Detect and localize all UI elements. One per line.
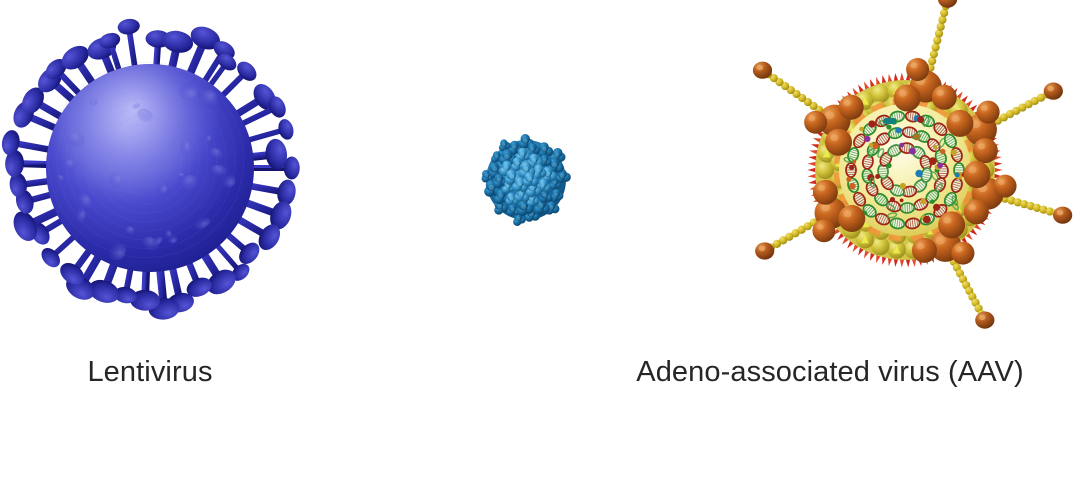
adenovirus-fiber-knob — [938, 0, 957, 8]
adenovirus-core-protein — [900, 183, 906, 189]
adenovirus-dna-segment — [900, 203, 915, 214]
adenovirus-fiber-bead — [938, 16, 946, 24]
adenovirus-core-protein — [846, 177, 851, 182]
adenovirus-fiber-bead — [937, 23, 945, 31]
adenovirus-core-protein — [869, 143, 873, 147]
adenovirus-fiber-bead — [931, 43, 939, 51]
adenovirus-core-protein — [955, 173, 960, 178]
adenovirus-core-protein — [859, 127, 864, 132]
adenovirus-fiber-bead — [940, 9, 948, 17]
adenovirus-core-marker — [883, 118, 896, 124]
adenovirus-fiber-knob — [975, 312, 994, 329]
aav-capsid — [300, 0, 760, 340]
adenovirus-core-protein — [923, 216, 931, 224]
adenovirus-core-protein — [900, 198, 904, 202]
adenovirus-core-protein — [890, 197, 895, 202]
adenovirus-core-protein — [929, 157, 937, 165]
adenovirus-core-protein — [886, 163, 891, 168]
adenovirus-fiber-bead — [928, 57, 936, 65]
lentivirus-particle — [0, 0, 300, 340]
adenovirus-core-protein — [849, 165, 854, 170]
adenovirus-core-protein — [915, 170, 922, 177]
adenovirus-fiber-knob — [753, 62, 772, 79]
panel-adenovirus: Adenovirus — [760, 0, 1080, 489]
adenovirus-core-protein — [920, 198, 926, 204]
adenovirus-fiber-bead — [933, 36, 941, 44]
adenovirus-fiber-bead — [935, 29, 943, 37]
adenovirus-fiber-knob — [755, 242, 774, 259]
virus-comparison-figure: Lentivirus — [0, 0, 1080, 489]
adenovirus-core-protein — [909, 148, 916, 155]
adenovirus-core-protein — [930, 199, 935, 204]
adenovirus-core-protein — [849, 183, 856, 190]
caption-lentivirus: Lentivirus — [0, 358, 300, 387]
adenovirus-fiber-knob — [1053, 207, 1072, 224]
adenovirus-core-protein — [899, 143, 904, 148]
adenovirus-core-protein — [875, 174, 880, 179]
adenovirus-core-protein — [940, 149, 945, 154]
panel-aav: Adeno-associated virus (AAV) — [300, 0, 760, 489]
adenovirus-core-protein — [951, 150, 957, 156]
adenovirus-particle — [760, 0, 1080, 350]
adenovirus-core-protein — [864, 136, 870, 142]
adenovirus-core-protein — [895, 127, 901, 133]
adenovirus-core-protein — [917, 116, 924, 123]
adenovirus-capsomere — [871, 85, 889, 103]
lentivirus-spike — [0, 129, 55, 157]
aav-group — [482, 134, 571, 226]
adenovirus-fiber-knob — [1044, 83, 1063, 100]
panel-lentivirus: Lentivirus — [0, 0, 300, 489]
adenovirus-core-protein — [933, 145, 937, 149]
adenovirus-fiber-bead — [930, 50, 938, 58]
adenovirus-core-protein — [868, 120, 875, 127]
adenovirus-core-protein — [937, 163, 943, 169]
adenovirus-core-protein — [933, 204, 940, 211]
